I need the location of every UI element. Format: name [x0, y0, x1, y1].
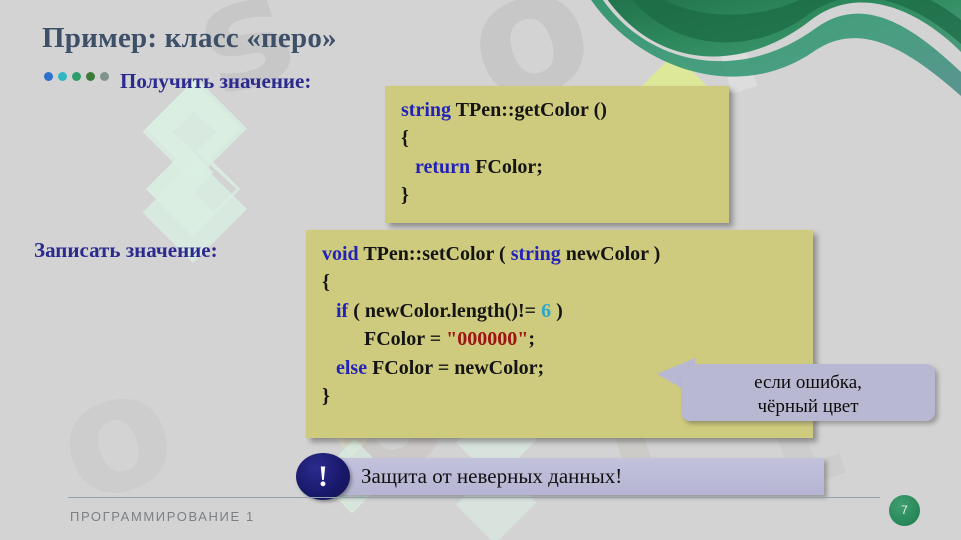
summary-banner-text: Защита от неверных данных! — [361, 464, 622, 489]
callout-line-1: если ошибка, — [681, 371, 935, 395]
code-line: { — [401, 124, 715, 152]
slide-canvas: s o f o f t o — [0, 0, 961, 540]
code-line: void TPen::setColor ( string newColor ) — [322, 240, 799, 268]
watermark-letter: o — [38, 342, 192, 528]
code-token-plain: { — [401, 127, 409, 149]
page-number-text: 7 — [889, 495, 920, 526]
code-line: { — [322, 268, 799, 296]
code-token-plain: ( newColor.length()!= — [348, 300, 541, 322]
code-line: string TPen::getColor () — [401, 96, 715, 124]
code-token-plain: } — [401, 184, 409, 206]
code-line: return FColor; — [401, 153, 715, 181]
label-set-value: Записать значение: — [34, 238, 218, 263]
code-token-plain: FColor = — [364, 328, 446, 350]
page-title: Пример: класс «перо» — [42, 22, 337, 55]
code-token-plain: { — [322, 271, 330, 293]
exclamation-icon: ! — [296, 453, 350, 500]
bullet-dot-4 — [86, 72, 95, 81]
code-token-plain: ; — [528, 328, 535, 350]
code-token-plain: } — [322, 385, 330, 407]
code-token-plain: TPen::getColor () — [451, 99, 607, 121]
code-token-keyword: else — [336, 357, 367, 379]
code-token-plain: newColor ) — [561, 243, 661, 265]
code-token-keyword: void — [322, 243, 359, 265]
bullet-dot-1 — [44, 72, 53, 81]
watermark-letter: s — [179, 0, 310, 120]
code-line: } — [401, 181, 715, 209]
code-token-keyword: string — [511, 243, 561, 265]
code-token-keyword: if — [336, 300, 348, 322]
footer-divider — [68, 497, 880, 498]
code-line: FColor = "000000"; — [322, 325, 799, 353]
footer-course-label: ПРОГРАММИРОВАНИЕ 1 — [70, 509, 255, 524]
bullet-dot-3 — [72, 72, 81, 81]
code-token-plain: ) — [551, 300, 563, 322]
code-token-keyword: return — [415, 156, 470, 178]
callout-error-note: если ошибка, чёрный цвет — [681, 364, 935, 421]
code-line: if ( newColor.length()!= 6 ) — [322, 297, 799, 325]
code-block-get-color: string TPen::getColor (){return FColor;} — [385, 86, 729, 223]
code-token-plain: TPen::setColor ( — [359, 243, 511, 265]
bullet-dot-5 — [100, 72, 109, 81]
code-token-plain: FColor = newColor; — [367, 357, 544, 379]
bullet-dots — [44, 72, 109, 81]
code-token-plain: FColor; — [470, 156, 543, 178]
bullet-dot-2 — [58, 72, 67, 81]
watermark-logo-icon — [108, 78, 278, 263]
label-get-value: Получить значение: — [120, 69, 311, 94]
code-token-number: 6 — [541, 300, 551, 322]
callout-line-2: чёрный цвет — [681, 395, 935, 419]
code-token-string: "000000" — [446, 328, 528, 350]
code-token-keyword: string — [401, 99, 451, 121]
